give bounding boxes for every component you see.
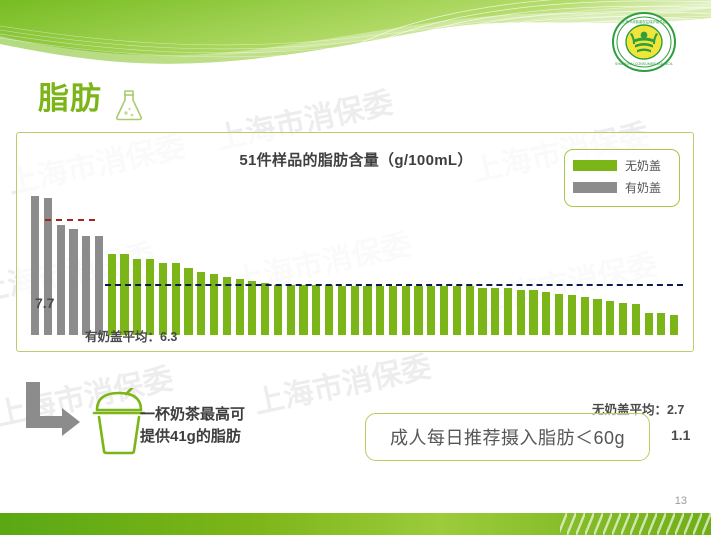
flask-icon (113, 88, 145, 122)
page-title: 脂肪 (38, 83, 102, 114)
bar-series-container (31, 187, 691, 335)
chart-bar (57, 225, 65, 335)
footer-bar (0, 513, 711, 535)
callout-line-2: 提供41g的脂肪 (140, 426, 310, 448)
chart-bar (376, 286, 384, 335)
chart-bar (606, 301, 614, 335)
chart-bar (389, 286, 397, 335)
chart-bar (427, 286, 435, 335)
average-line-no-cap (105, 284, 683, 286)
chart-bar (466, 286, 474, 335)
chart-plot-area (31, 187, 691, 335)
chart-bar (645, 313, 653, 335)
chart-bar (146, 259, 154, 335)
chart-bar (338, 286, 346, 335)
chart-bar (95, 236, 103, 335)
chart-bar (453, 286, 461, 335)
legend-label-green: 无奶盖 (625, 157, 661, 174)
min-value-label: 1.1 (671, 427, 690, 443)
callout-text: 一杯奶茶最高可 提供41g的脂肪 (140, 404, 310, 448)
chart-bar (236, 279, 244, 335)
chart-bar (287, 285, 295, 336)
chart-bar (529, 290, 537, 335)
chart-bar (133, 259, 141, 335)
chart-bar (210, 274, 218, 335)
chart-bar (478, 288, 486, 335)
chart-bar (299, 285, 307, 336)
chart-bar (632, 304, 640, 335)
chart-bar (657, 313, 665, 335)
chart-bar (274, 285, 282, 336)
chart-bar (581, 297, 589, 335)
chart-bar (491, 288, 499, 335)
chart-bar (197, 272, 205, 335)
max-value-label: 7.7 (35, 295, 54, 311)
legend-item-green: 无奶盖 (573, 157, 679, 174)
header-banner (0, 0, 711, 80)
svg-text:SHANGHAI CONSUMER COUNCIL: SHANGHAI CONSUMER COUNCIL (615, 62, 673, 66)
avg-with-cap-label: 有奶盖平均：6.3 (85, 326, 177, 345)
chart-bar (504, 288, 512, 335)
chart-bar (542, 292, 550, 335)
chart-bar (440, 286, 448, 335)
svg-text:上海市消费者权益保护委员会: 上海市消费者权益保护委员会 (622, 19, 667, 24)
average-line-with-cap (45, 219, 95, 221)
chart-bar (593, 299, 601, 335)
chart-bar (184, 268, 192, 335)
fat-content-chart: 51件样品的脂肪含量（g/100mL） 无奶盖 有奶盖 7.7 1.1 有奶盖平… (16, 132, 694, 352)
chart-bar (325, 285, 333, 336)
chart-bar (414, 286, 422, 335)
chart-bar (619, 303, 627, 336)
chart-bar (261, 283, 269, 335)
chart-bar (172, 263, 180, 335)
slide-root: 上海市消费者权益保护委员会 SHANGHAI CONSUMER COUNCIL … (0, 0, 711, 535)
chart-bar (351, 286, 359, 335)
legend-swatch-green (573, 160, 617, 171)
chart-bar (555, 294, 563, 336)
chart-bar (31, 196, 39, 335)
chart-bar (363, 286, 371, 335)
chart-bar (670, 315, 678, 335)
chart-bar (517, 290, 525, 335)
elbow-arrow-icon (22, 382, 84, 440)
callout-line-1: 一杯奶茶最高可 (140, 404, 310, 426)
daily-intake-note-text: 成人每日推荐摄入脂肪＜60g (390, 424, 625, 450)
page-number: 13 (675, 495, 687, 507)
chart-bar (159, 263, 167, 335)
chart-bar (248, 281, 256, 335)
chart-bar (120, 254, 128, 335)
chart-bar (108, 254, 116, 335)
shanghai-consumer-council-logo: 上海市消费者权益保护委员会 SHANGHAI CONSUMER COUNCIL (611, 11, 677, 73)
chart-bar (312, 285, 320, 336)
daily-intake-note-box: 成人每日推荐摄入脂肪＜60g (365, 413, 650, 461)
chart-bar (402, 286, 410, 335)
chart-bar (69, 229, 77, 336)
chart-bar (82, 236, 90, 335)
chart-bar (568, 295, 576, 335)
